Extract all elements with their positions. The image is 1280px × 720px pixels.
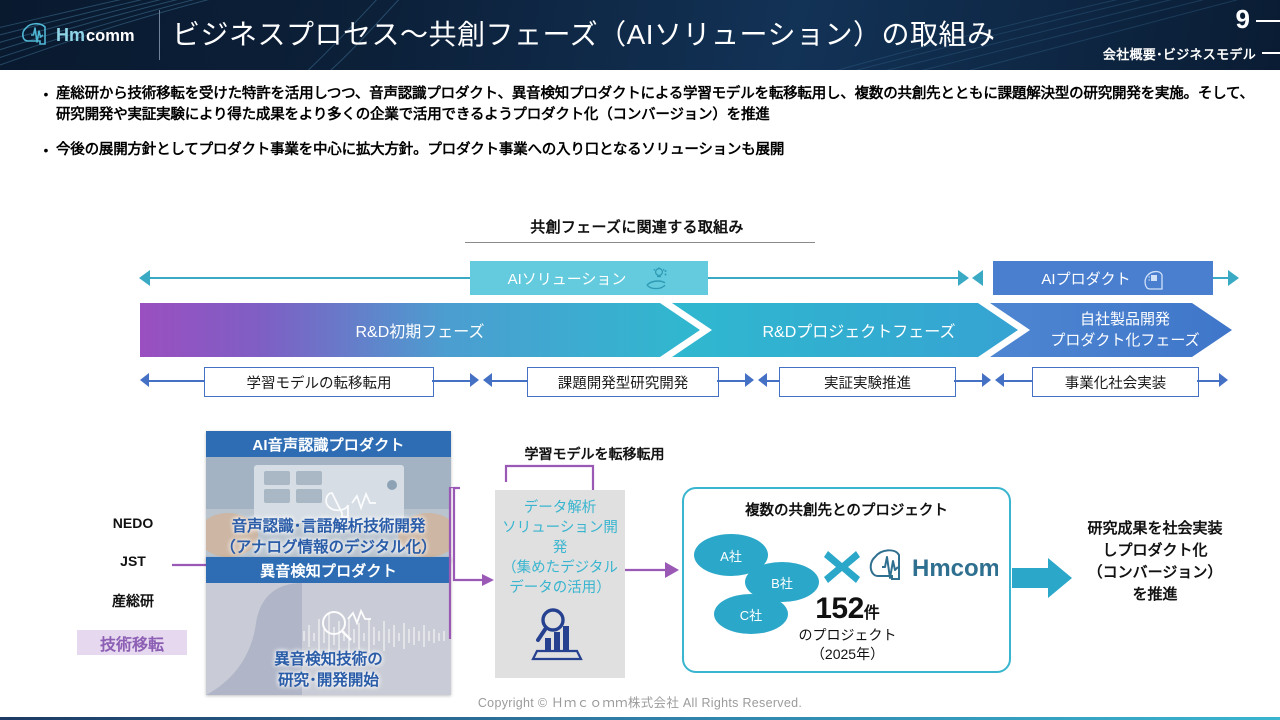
cocreation-heading-rule (465, 242, 815, 243)
step-arrow-start-icon (140, 373, 149, 387)
step-label-2: 課題開発型研究開発 (558, 372, 689, 393)
databox-to-project-arrow (625, 555, 687, 585)
slide-root: Hm comm ビジネスプロセス～共創フェーズ（AIソリューション）の取組み 9… (0, 0, 1280, 720)
multiply-icon (820, 545, 864, 589)
funder-label-jst: JST (88, 553, 178, 569)
page-number-rule (1256, 20, 1280, 22)
data-box-line2: ソリューション開発 (495, 518, 625, 558)
step-box-3: 実証実験推進 (779, 367, 956, 397)
product-range-arrow-left-icon (972, 270, 983, 286)
page-number: 9 (1236, 4, 1250, 35)
svg-text:Hm: Hm (56, 25, 85, 45)
hand-idea-icon (644, 265, 670, 291)
copyright-text: Copyright © Ｈｍｃｏｍｍ株式会社 All Rights Reserv… (0, 692, 1280, 711)
ai-solution-bar: AIソリューション (470, 261, 708, 295)
step-arrow-left-icon (483, 373, 492, 387)
outcome-line4: を推進 (1040, 584, 1270, 606)
head-chip-icon (1141, 265, 1165, 291)
section-label: 会社概要･ビジネスモデル (1103, 44, 1256, 63)
ai-product-bar: AIプロダクト (993, 261, 1213, 295)
section-label-rule (1262, 52, 1280, 54)
funder-label-nedo: NEDO (88, 515, 178, 531)
company-bubble-a-label: A社 (720, 546, 742, 565)
chart-magnifier-icon (529, 604, 591, 662)
phase-label-1: R&D初期フェーズ (356, 318, 485, 342)
anomaly-caption-line2: 研究･開発開始 (206, 670, 451, 691)
step-connector-line (1004, 380, 1032, 382)
product-range-arrow-right-icon (1228, 270, 1239, 286)
outcome-line2: しプロダクト化 (1040, 540, 1270, 562)
product-card-anomaly-caption: 異音検知技術の 研究･開発開始 (206, 649, 451, 691)
solution-range-arrow-right-icon (958, 270, 969, 286)
step-label-4: 事業化社会実装 (1065, 372, 1167, 393)
funder-label-group: NEDO JST 産総研 (88, 515, 178, 633)
project-count-block: 152件 のプロジェクト （2025年） (740, 592, 955, 664)
step-box-4: 事業化社会実装 (1032, 367, 1199, 397)
project-count-line: 152件 (740, 592, 955, 626)
outcome-line3: （コンバージョン） (1040, 562, 1270, 584)
solution-range-arrow-left-icon (139, 270, 150, 286)
ai-product-label: AIプロダクト (1041, 268, 1130, 289)
project-count-sub2: （2025年） (740, 645, 955, 664)
step-arrow-right-icon (745, 373, 754, 387)
step-box-2: 課題開発型研究開発 (527, 367, 719, 397)
bullet-marker: • (36, 140, 56, 161)
svg-text:comm: comm (86, 27, 135, 45)
slide-header: Hm comm ビジネスプロセス～共創フェーズ（AIソリューション）の取組み 9… (0, 0, 1280, 70)
bullet-text: 産総研から技術移転を受けた特許を活用しつつ、音声認識プロダクト、異音検知プロダク… (56, 84, 1256, 126)
header-right-block: 9 会社概要･ビジネスモデル (1040, 0, 1280, 70)
project-count-sub1: のプロジェクト (740, 626, 955, 645)
svg-text:Hmcomm: Hmcomm (912, 555, 998, 582)
bullet-marker: • (36, 84, 56, 126)
step-arrow-end-icon (1219, 373, 1228, 387)
step-connector-line (492, 380, 527, 382)
step-arrow-left-icon (995, 373, 1004, 387)
data-analysis-box: データ解析 ソリューション開発 （集めたデジタル データの活用） (495, 490, 625, 678)
step-connector-line (717, 380, 745, 382)
project-count-unit: 件 (864, 605, 880, 622)
company-logo: Hm comm (18, 18, 148, 52)
cocreation-heading: 共創フェーズに関連する取組み (462, 216, 812, 237)
solution-range-line-right (708, 277, 958, 279)
step-box-1: 学習モデルの転移転用 (204, 367, 434, 397)
step-arrow-right-icon (982, 373, 991, 387)
step-connector-line (149, 380, 204, 382)
step-connector-line (432, 380, 470, 382)
anomaly-caption-line1: 異音検知技術の (206, 649, 451, 670)
phase-label-2: R&Dプロジェクトフェーズ (763, 318, 956, 342)
page-title: ビジネスプロセス～共創フェーズ（AIソリューション）の取組み (172, 13, 996, 53)
step-connector-line (954, 380, 982, 382)
step-label-3: 実証実験推進 (824, 372, 911, 393)
outcome-line1: 研究成果を社会実装 (1040, 518, 1270, 540)
phase-chevron-band: R&D初期フェーズ R&Dプロジェクトフェーズ 自社製品開発 プロダクト化フェー… (140, 303, 1232, 357)
bullet-item: • 産総研から技術移転を受けた特許を活用しつつ、音声認識プロダクト、異音検知プロ… (36, 84, 1256, 126)
project-box-brand-logo: Hmcomm (866, 543, 998, 583)
rail-spacer (450, 490, 460, 640)
step-arrow-right-icon (470, 373, 479, 387)
step-label-1: 学習モデルの転移転用 (247, 372, 392, 393)
ai-solution-label: AIソリューション (508, 268, 627, 289)
company-bubble-b-label: B社 (771, 573, 793, 592)
data-box-line3: （集めたデジタル (502, 558, 618, 578)
phase-label-3-line2: プロダクト化フェーズ (1050, 330, 1199, 351)
project-count-value: 152 (815, 592, 864, 625)
outcome-text-block: 研究成果を社会実装 しプロダクト化 （コンバージョン） を推進 (1040, 518, 1270, 606)
step-connector-line (1197, 380, 1219, 382)
project-box-title: 複数の共創先とのプロジェクト (684, 499, 1009, 520)
phase-label-3-line1: 自社製品開発 (1080, 309, 1170, 330)
data-box-line1: データ解析 (524, 498, 597, 518)
step-connector-line (767, 380, 779, 382)
data-box-line4: データの活用） (509, 578, 611, 598)
solution-range-line-left (148, 277, 470, 279)
bullet-text: 今後の展開方針としてプロダクト事業を中心に拡大方針。プロダクト事業への入り口とな… (56, 140, 784, 161)
bullet-item: • 今後の展開方針としてプロダクト事業を中心に拡大方針。プロダクト事業への入り口… (36, 140, 1256, 161)
product-card-voice-header: AI音声認識プロダクト (206, 431, 451, 457)
bullet-list: • 産総研から技術移転を受けた特許を活用しつつ、音声認識プロダクト、異音検知プロ… (36, 84, 1256, 170)
cards-right-rail-connector (196, 487, 456, 647)
header-divider (159, 10, 160, 60)
step-arrow-left-icon (758, 373, 767, 387)
funder-label-aist: 産総研 (88, 591, 178, 611)
